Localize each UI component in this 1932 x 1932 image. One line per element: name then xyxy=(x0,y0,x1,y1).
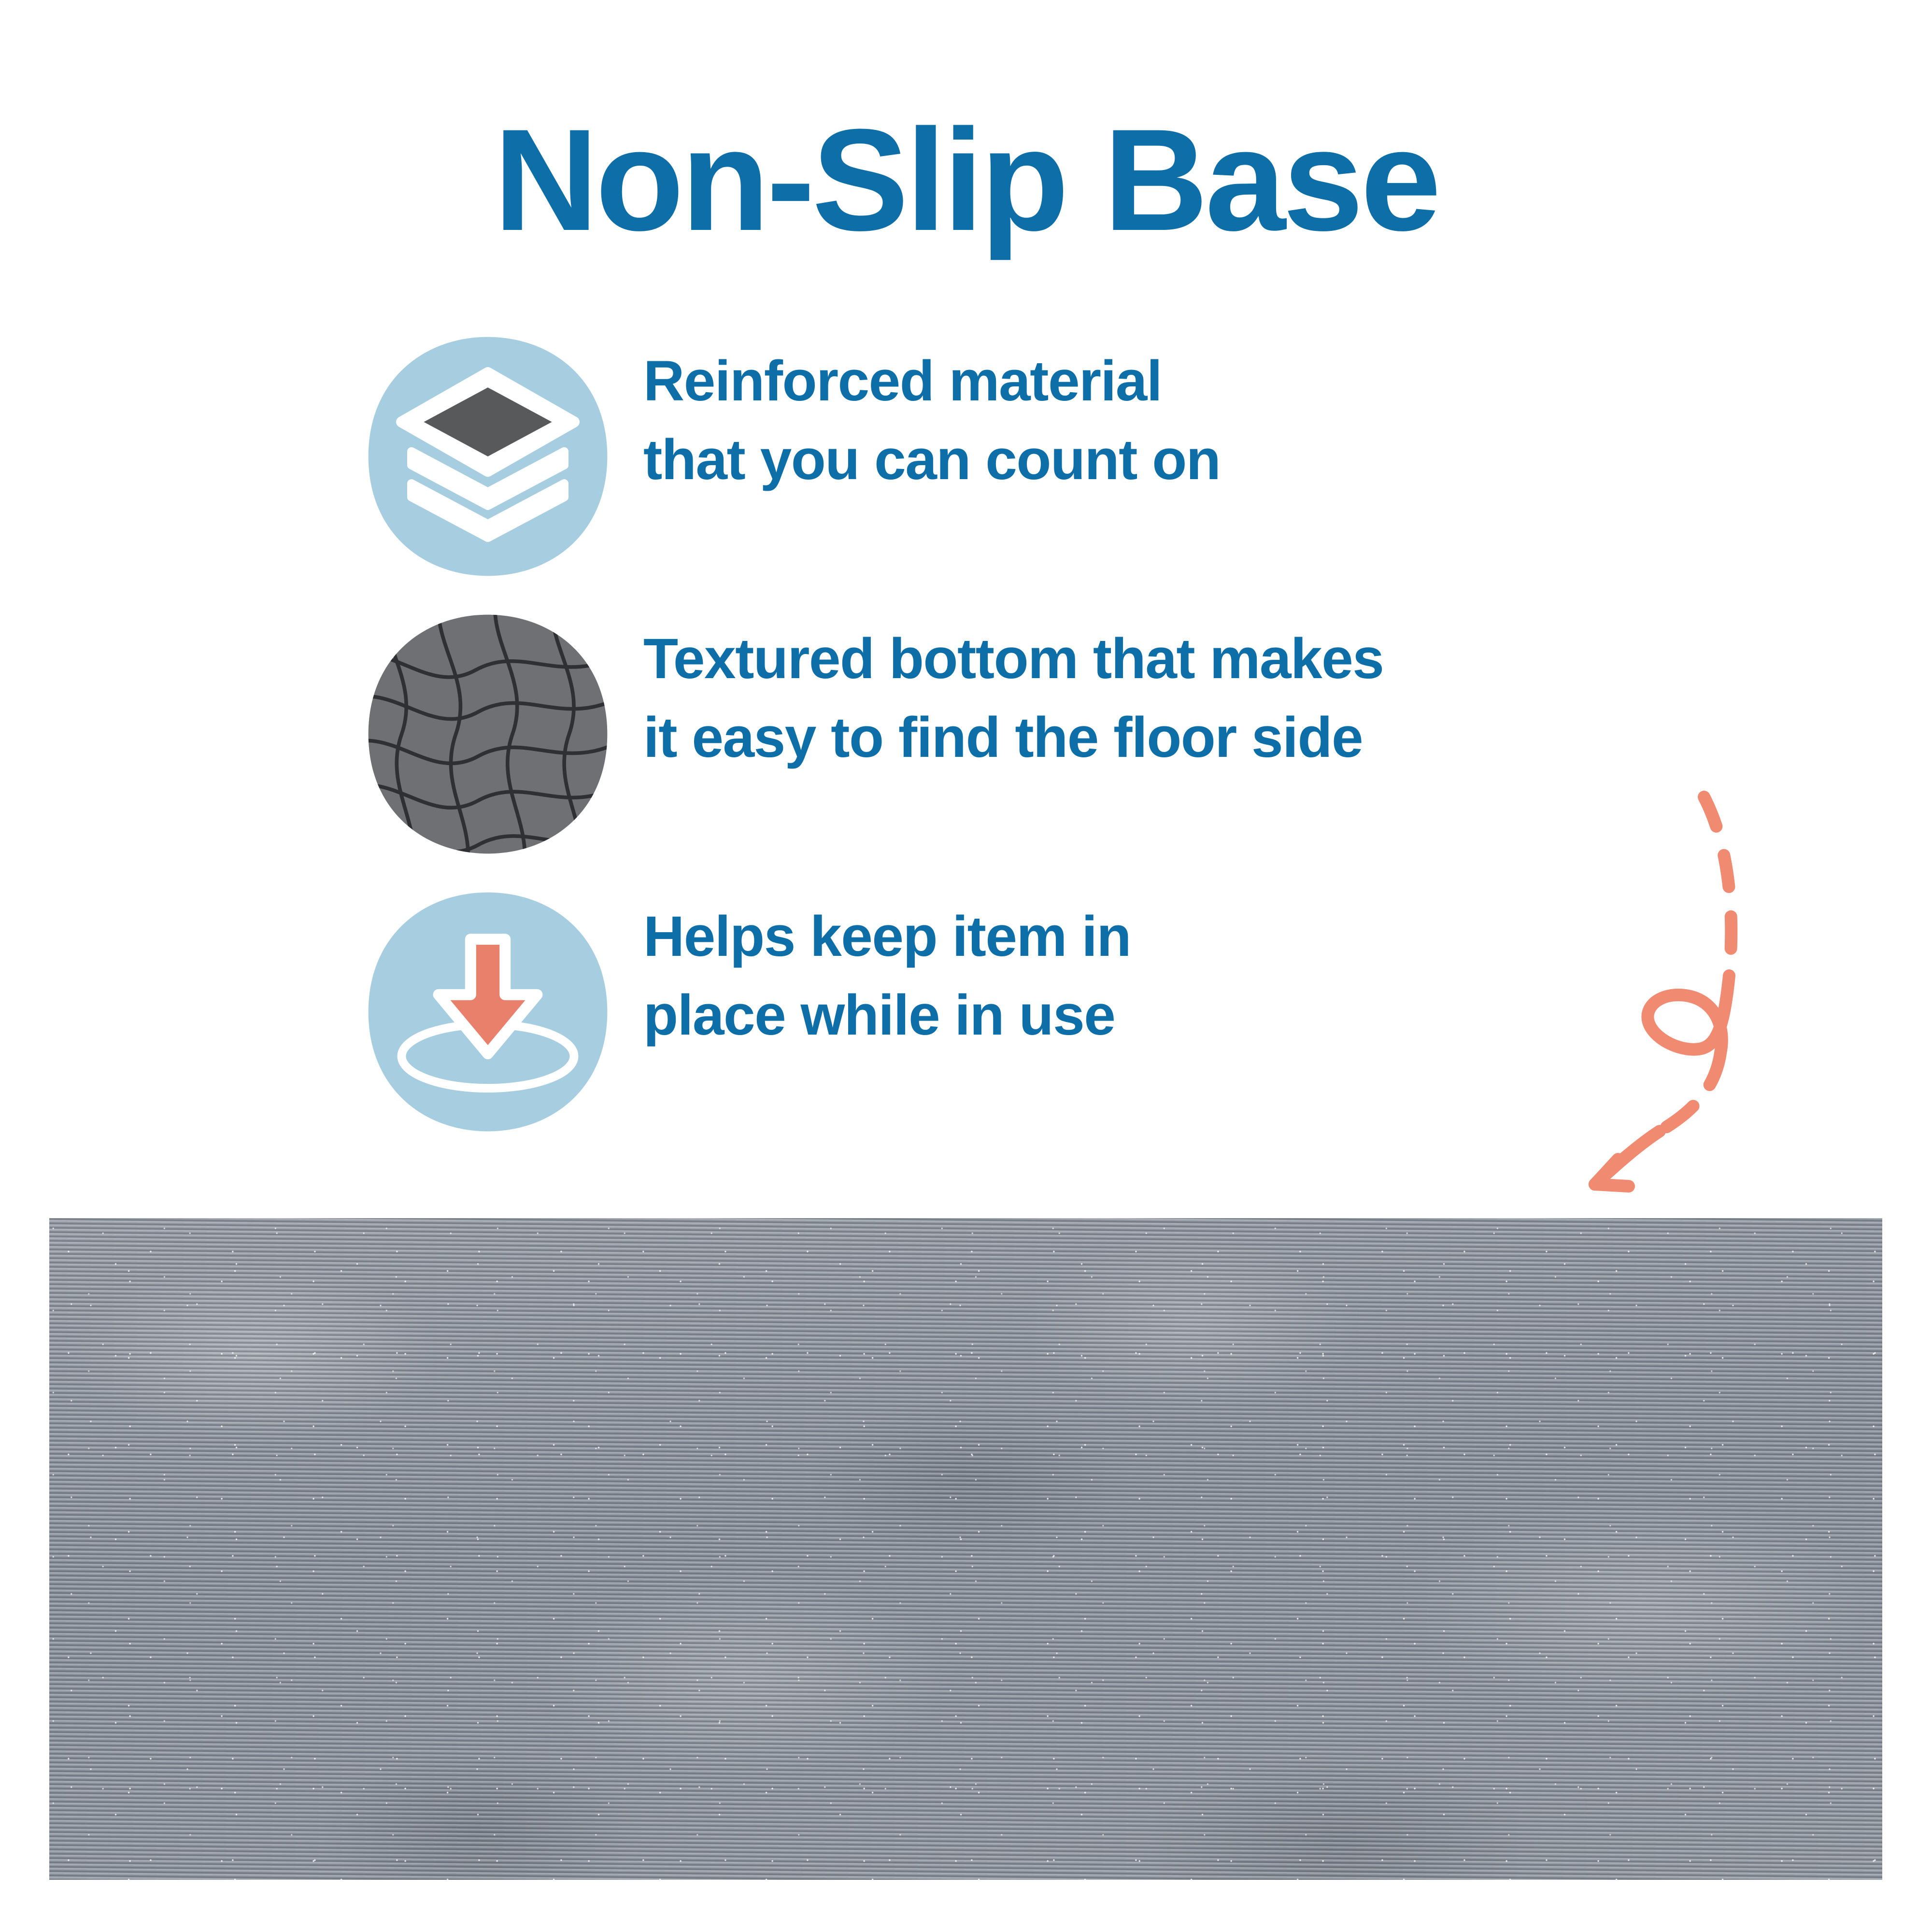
feature-line: place while in use xyxy=(643,976,1131,1055)
arrow-down-into-surface-icon xyxy=(365,889,611,1135)
mat-speckle-texture xyxy=(49,1218,1882,1880)
feature-line: that you can count on xyxy=(643,421,1220,499)
feature-row: Textured bottom that makes it easy to fi… xyxy=(0,611,1932,889)
feature-line: Helps keep item in xyxy=(643,897,1131,976)
feature-line: Reinforced material xyxy=(643,342,1220,421)
product-photo: softzone® by ECR4Kids softzone® by ECR4K… xyxy=(49,1218,1882,1880)
infographic-page: Non-Slip Base Reinforced material xyxy=(0,0,1932,1932)
feature-text: Textured bottom that makes it easy to fi… xyxy=(643,620,1383,777)
feature-text: Reinforced material that you can count o… xyxy=(643,342,1220,499)
textured-surface-icon xyxy=(365,611,611,857)
page-title: Non-Slip Base xyxy=(0,107,1932,252)
layers-icon xyxy=(365,333,611,580)
feature-row: Reinforced material that you can count o… xyxy=(0,333,1932,611)
feature-list: Reinforced material that you can count o… xyxy=(0,333,1932,1166)
feature-text: Helps keep item in place while in use xyxy=(643,897,1131,1055)
feature-line: it easy to find the floor side xyxy=(643,698,1383,777)
feature-row: Helps keep item in place while in use xyxy=(0,889,1932,1166)
feature-line: Textured bottom that makes xyxy=(643,620,1383,698)
